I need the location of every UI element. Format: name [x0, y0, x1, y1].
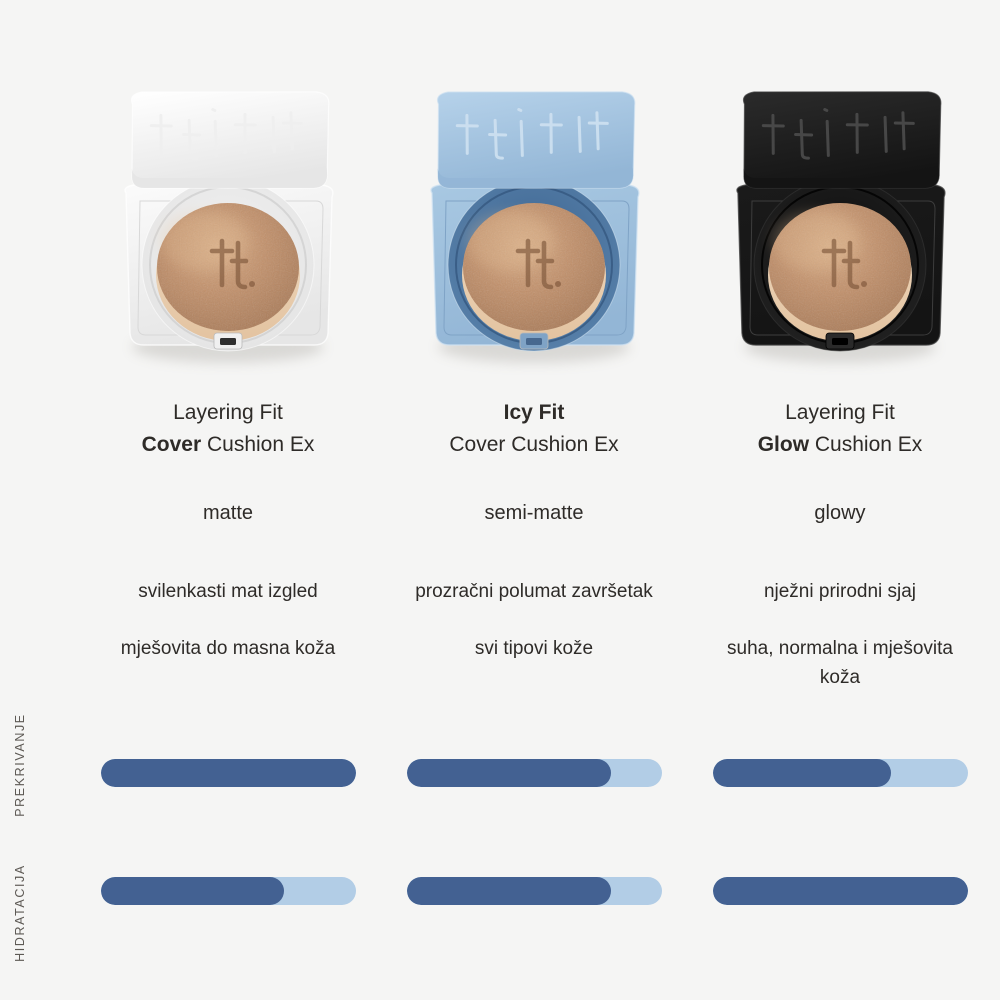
product-title-line2: Cushion Ex	[809, 433, 922, 456]
bar-track-hydration	[407, 877, 662, 905]
product-finish: glowy	[814, 499, 865, 527]
bar-track-coverage	[713, 759, 968, 787]
product-title-line2: Cover Cushion Ex	[449, 433, 618, 456]
bar-coverage	[713, 759, 968, 787]
product-finish: semi-matte	[485, 499, 584, 527]
bar-track-coverage	[407, 759, 662, 787]
bar-fill-hydration	[713, 877, 968, 905]
compact-artwork	[410, 75, 658, 375]
bar-fill-hydration	[101, 877, 285, 905]
bar-hydration	[407, 877, 662, 905]
bar-fill-coverage	[407, 759, 611, 787]
compact-artwork	[716, 75, 964, 375]
compact-lid	[129, 85, 332, 194]
bar-fill-coverage	[713, 759, 892, 787]
axis-label-hydration: HIDRATACIJA	[0, 840, 40, 985]
product-title-line2: Cushion Ex	[201, 433, 314, 456]
product-title-accent: Glow	[758, 433, 809, 456]
product-image-layering-fit-cover[interactable]	[104, 75, 352, 375]
cushion-sponge	[768, 203, 912, 341]
product-title-line1: Icy Fit	[504, 401, 565, 424]
latch-tab	[214, 333, 242, 349]
axis-label-coverage-text: PREKRIVANJE	[13, 713, 27, 817]
bar-fill-coverage	[101, 759, 356, 787]
product-column: Icy FitCover Cushion Exsemi-matteprozrač…	[394, 0, 674, 1000]
bar-coverage	[101, 759, 356, 787]
bar-track-hydration	[713, 877, 968, 905]
product-title-line1: Layering Fit	[173, 401, 283, 424]
product-skin-type: svi tipovi kože	[475, 634, 593, 663]
bar-fill-hydration	[407, 877, 611, 905]
product-skin-type: mješovita do masna koža	[121, 634, 335, 663]
comparison-infographic: PREKRIVANJE HIDRATACIJA	[0, 0, 1000, 1000]
latch-tab	[826, 333, 854, 349]
axis-label-hydration-text: HIDRATACIJA	[13, 864, 27, 962]
product-title-accent: Cover	[142, 433, 202, 456]
product-title: Layering FitCover Cushion Ex	[142, 397, 315, 461]
cushion-sponge	[462, 203, 606, 341]
bar-hydration	[713, 877, 968, 905]
compact-lid	[741, 85, 944, 194]
compact-artwork	[104, 75, 352, 375]
bar-coverage	[407, 759, 662, 787]
product-finish: matte	[203, 499, 253, 527]
latch-tab	[520, 333, 548, 349]
axis-label-coverage: PREKRIVANJE	[0, 700, 40, 830]
product-skin-type: suha, normalna i mješovita koža	[713, 634, 968, 692]
product-column: Layering FitCover Cushion Exmattesvilenk…	[88, 0, 368, 1000]
product-effect: prozračni polumat završetak	[415, 577, 653, 606]
bar-track-coverage	[101, 759, 356, 787]
cushion-sponge	[156, 203, 300, 341]
product-column: Layering FitGlow Cushion Exglowynježni p…	[700, 0, 980, 1000]
bar-hydration	[101, 877, 356, 905]
product-title-line1: Layering Fit	[785, 401, 895, 424]
product-image-icy-fit-cover[interactable]	[410, 75, 658, 375]
product-title: Layering FitGlow Cushion Ex	[758, 397, 923, 461]
product-effect: nježni prirodni sjaj	[764, 577, 916, 606]
bar-track-hydration	[101, 877, 356, 905]
compact-lid	[435, 85, 638, 194]
product-image-layering-fit-glow[interactable]	[716, 75, 964, 375]
product-title: Icy FitCover Cushion Ex	[449, 397, 618, 461]
product-effect: svilenkasti mat izgled	[138, 577, 318, 606]
product-columns: Layering FitCover Cushion Exmattesvilenk…	[88, 0, 980, 1000]
